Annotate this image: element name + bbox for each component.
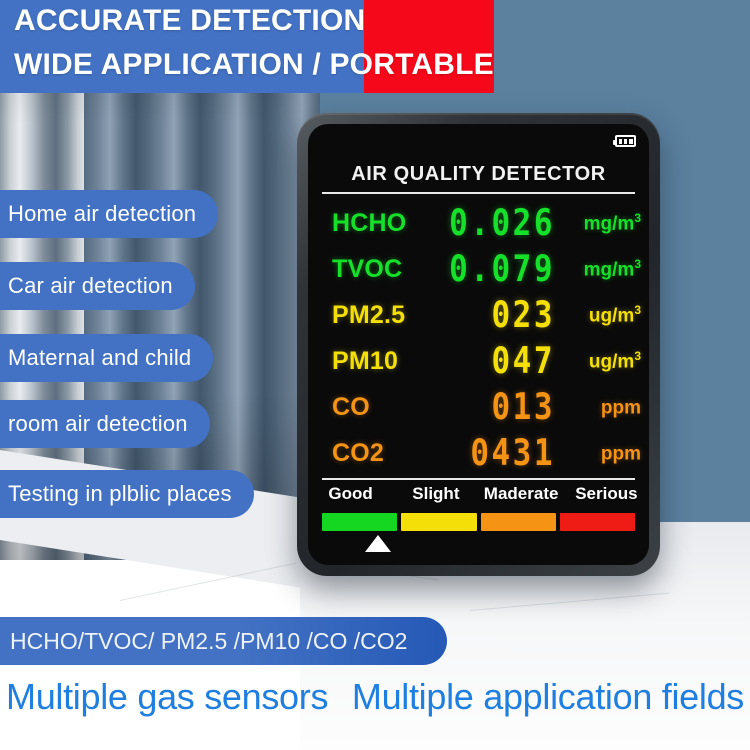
product-image: ACCURATE DETECTION WIDE APPLICATION / PO… [0,0,750,750]
readings-list: HCHO 0.026 mg/m3 TVOC 0.079 mg/m3 PM2.5 … [308,200,649,476]
air-quality-scale-labels: Good Slight Maderate Serious [308,484,649,504]
scale-label-slight: Slight [393,484,478,504]
sensor-list-label: HCHO/TVOC/ PM2.5 /PM10 /CO /CO2 [10,628,407,655]
reading-value: 0.026 [449,202,555,244]
feature-pill-label: Maternal and child [8,345,191,371]
reading-row-hcho: HCHO 0.026 mg/m3 [308,200,649,246]
feature-pill-label: room air detection [8,411,188,437]
reading-label: PM2.5 [332,301,405,330]
reading-value: 013 [492,386,556,428]
reading-value: 0.079 [449,248,555,290]
feature-pill-public: Testing in plblic places [0,470,254,518]
reading-unit: ppm [601,441,641,465]
device-screen: AIR QUALITY DETECTOR HCHO 0.026 mg/m3 TV… [308,124,649,565]
footer-taglines: Multiple gas sensors Multiple applicatio… [0,676,750,718]
tagline-left: Multiple gas sensors [6,676,328,718]
feature-pill-label: Home air detection [8,201,196,227]
reading-row-pm25: PM2.5 023 ug/m3 [308,292,649,338]
battery-icon [615,135,636,147]
screen-title: AIR QUALITY DETECTOR [308,163,649,186]
scale-pointer-triangle-icon [365,535,391,552]
scale-label-serious: Serious [564,484,649,504]
feature-pill-maternal: Maternal and child [0,334,213,382]
scale-label-good: Good [308,484,393,504]
reading-value: 047 [492,340,556,382]
feature-pill-home: Home air detection [0,190,218,238]
reading-row-co: CO 013 ppm [308,384,649,430]
scale-segment-good [322,513,397,531]
reading-label: CO [332,393,370,422]
screen-divider-top [322,192,635,194]
headline-line-1: ACCURATE DETECTION [14,4,365,38]
sensor-list-pill: HCHO/TVOC/ PM2.5 /PM10 /CO /CO2 [0,617,447,665]
reading-unit: ug/m3 [589,349,641,373]
reading-unit: mg/m3 [584,211,641,235]
reading-label: TVOC [332,255,402,284]
reading-unit: mg/m3 [584,257,641,281]
scale-label-maderate: Maderate [479,484,564,504]
air-quality-detector-device: AIR QUALITY DETECTOR HCHO 0.026 mg/m3 TV… [297,113,660,576]
headline-line-2: WIDE APPLICATION / PORTABLE [14,48,494,82]
screen-divider-bottom [322,478,635,480]
reading-label: HCHO [332,209,406,238]
reading-unit: ug/m3 [589,303,641,327]
air-quality-scale-bar [322,513,635,531]
tagline-right: Multiple application fields [352,676,744,718]
reading-value: 0431 [470,432,555,474]
feature-pill-label: Testing in plblic places [8,481,232,507]
feature-pill-car: Car air detection [0,262,195,310]
reading-row-tvoc: TVOC 0.079 mg/m3 [308,246,649,292]
reading-label: PM10 [332,347,398,376]
feature-pill-label: Car air detection [8,273,173,299]
feature-pill-room: room air detection [0,400,210,448]
scale-segment-slight [401,513,476,531]
reading-unit: ppm [601,395,641,419]
scale-segment-serious [560,513,635,531]
scale-segment-maderate [481,513,556,531]
reading-row-co2: CO2 0431 ppm [308,430,649,476]
reading-value: 023 [492,294,556,336]
reading-row-pm10: PM10 047 ug/m3 [308,338,649,384]
reading-label: CO2 [332,439,384,468]
